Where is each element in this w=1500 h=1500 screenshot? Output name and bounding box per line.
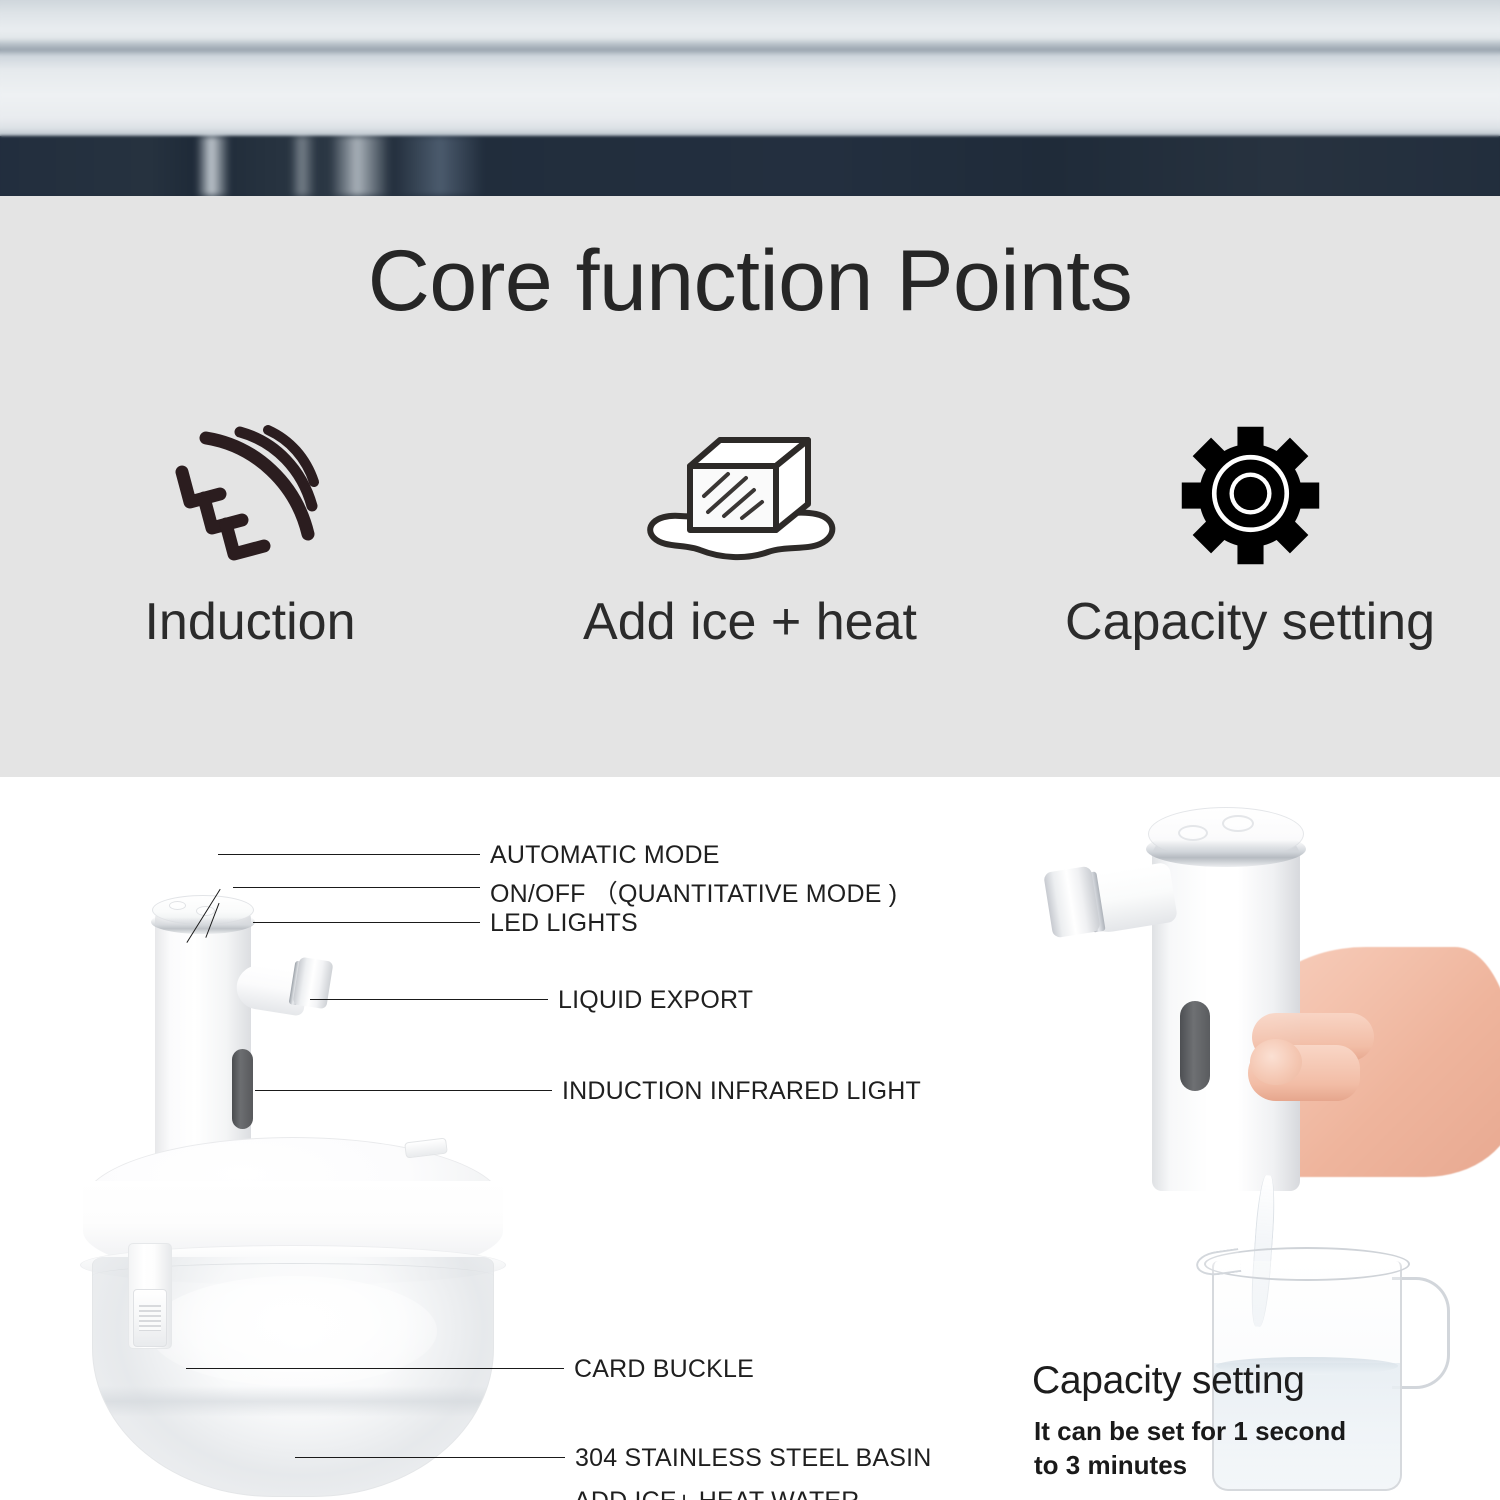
dispenser-diagram: AUTOMATIC MODE ON/OFF （QUANTITATIVE MODE… xyxy=(0,777,1000,1500)
feature-label: Add ice + heat xyxy=(583,592,917,652)
thumb-tip xyxy=(1250,1039,1302,1085)
liquid-export-nozzle-photo xyxy=(1043,866,1101,939)
liquid-export-nozzle xyxy=(292,957,333,1010)
onoff-button-photo[interactable] xyxy=(1178,825,1208,841)
basin-highlight xyxy=(149,1276,437,1386)
callout-automatic-mode: AUTOMATIC MODE xyxy=(490,841,720,870)
leader-line xyxy=(255,1090,552,1091)
leader-line xyxy=(295,1457,565,1458)
infrared-sensor-window-photo xyxy=(1180,1001,1210,1091)
feature-label: Induction xyxy=(144,592,355,652)
feature-label: Capacity setting xyxy=(1065,592,1435,652)
leader-line xyxy=(218,854,480,855)
feature-induction: Induction xyxy=(0,408,500,698)
auto-mode-button-photo[interactable] xyxy=(1222,815,1254,832)
leader-line xyxy=(233,887,480,888)
callout-stainless-basin: 304 STAINLESS STEEL BASIN xyxy=(575,1444,932,1473)
auto-mode-button[interactable] xyxy=(169,901,186,910)
callout-led-lights: LED LIGHTS xyxy=(490,909,638,938)
callout-add-ice-heat-water: ADD ICE+ HEAT WATER xyxy=(574,1487,860,1500)
capacity-heading: Capacity setting xyxy=(1032,1359,1305,1403)
gear-icon xyxy=(1178,408,1323,578)
capacity-description-line1: It can be set for 1 second xyxy=(1034,1414,1346,1448)
capacity-description-line2: to 3 minutes xyxy=(1034,1448,1346,1482)
capacity-description: It can be set for 1 second to 3 minutes xyxy=(1034,1414,1346,1483)
leader-line xyxy=(186,1368,564,1369)
card-buckle-grip xyxy=(139,1305,161,1331)
melting-ice-cube-icon xyxy=(628,408,873,578)
induction-wave-icon xyxy=(168,408,333,578)
chrome-rim-photo xyxy=(1146,831,1306,867)
callout-induction-infrared-light: INDUCTION INFRARED LIGHT xyxy=(562,1077,921,1106)
banner-blur-overlay xyxy=(0,0,1500,196)
page-title: Core function Points xyxy=(0,238,1500,324)
basin-reflection-band xyxy=(93,1386,493,1417)
callout-liquid-export: LIQUID EXPORT xyxy=(558,986,753,1015)
feature-add-ice-heat: Add ice + heat xyxy=(500,408,1000,698)
product-marketing-page: Core function Points xyxy=(0,0,1500,1500)
leader-line xyxy=(253,922,480,923)
core-features-panel: Core function Points xyxy=(0,196,1500,777)
leader-line xyxy=(310,999,548,1000)
feature-row: Induction xyxy=(0,408,1500,698)
feature-capacity-setting: Capacity setting xyxy=(1000,408,1500,698)
infrared-sensor-window xyxy=(232,1049,253,1129)
callout-onoff-quantitative: ON/OFF （QUANTITATIVE MODE ) xyxy=(490,874,897,910)
callout-card-buckle: CARD BUCKLE xyxy=(574,1355,754,1384)
top-photo-banner xyxy=(0,0,1500,196)
